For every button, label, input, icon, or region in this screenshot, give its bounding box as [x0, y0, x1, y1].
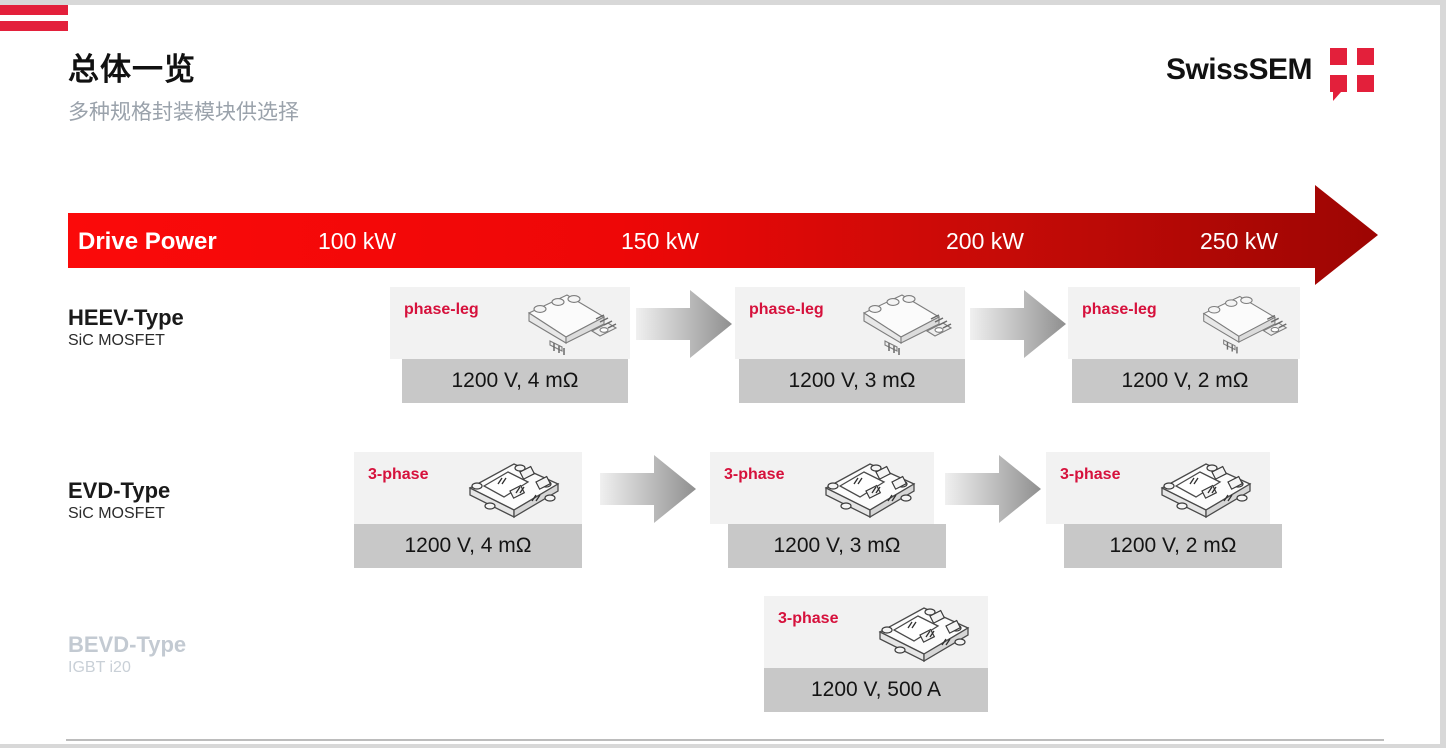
phase-leg-module-icon	[504, 291, 622, 359]
card-heev-2[interactable]: phase-leg	[735, 287, 965, 403]
card-bevd-1[interactable]: 3-phase	[764, 596, 988, 712]
three-phase-module-icon	[868, 602, 978, 668]
page-edge-right	[1440, 0, 1446, 748]
page-edge-bottom	[0, 744, 1446, 748]
row-name-heev: HEEV-Type	[68, 305, 184, 330]
row-label-evd: EVD-Type SiC MOSFET	[68, 478, 170, 525]
connector-arrow-heev-2	[970, 290, 1066, 358]
card-evd-3[interactable]: 3-phase	[1046, 452, 1270, 568]
card-tag-evd-2: 3-phase	[724, 466, 784, 484]
card-spec-evd-3: 1200 V, 2 mΩ	[1064, 524, 1282, 568]
power-tick-150kw: 150 kW	[621, 228, 699, 255]
page-subtitle: 多种规格封装模块供选择	[68, 96, 299, 126]
row-name-evd: EVD-Type	[68, 478, 170, 503]
row-sub-bevd: IGBT i20	[68, 657, 186, 679]
card-tag-heev-3: phase-leg	[1082, 301, 1157, 319]
card-image-heev-3: phase-leg	[1068, 287, 1300, 359]
drive-power-labels: Drive Power 100 kW 150 kW 200 kW 250 kW	[68, 228, 1378, 258]
three-phase-module-icon	[458, 458, 568, 524]
card-tag-heev-1: phase-leg	[404, 301, 479, 319]
power-tick-250kw: 250 kW	[1200, 228, 1278, 255]
three-phase-module-icon	[1150, 458, 1260, 524]
slide-canvas: 总体一览 多种规格封装模块供选择 SwissSEM Drive Power 10…	[0, 0, 1446, 748]
card-tag-bevd-1: 3-phase	[778, 610, 838, 628]
three-phase-module-icon	[814, 458, 924, 524]
connector-arrow-evd-1	[600, 455, 696, 523]
power-tick-200kw: 200 kW	[946, 228, 1024, 255]
brand-wordmark: SwissSEM	[1166, 53, 1312, 87]
brand-squares-icon	[1330, 48, 1374, 92]
card-spec-heev-1: 1200 V, 4 mΩ	[402, 359, 628, 403]
row-name-bevd: BEVD-Type	[68, 632, 186, 657]
card-heev-1[interactable]: phase-leg	[390, 287, 630, 403]
card-tag-heev-2: phase-leg	[749, 301, 824, 319]
accent-bar-upper	[0, 5, 68, 15]
connector-arrow-evd-2	[945, 455, 1041, 523]
connector-arrow-heev-1	[636, 290, 732, 358]
row-sub-heev: SiC MOSFET	[68, 330, 184, 352]
drive-power-heading: Drive Power	[78, 228, 217, 256]
card-heev-3[interactable]: phase-leg	[1068, 287, 1300, 403]
card-tag-evd-3: 3-phase	[1060, 466, 1120, 484]
card-spec-evd-1: 1200 V, 4 mΩ	[354, 524, 582, 568]
row-label-bevd: BEVD-Type IGBT i20	[68, 632, 186, 679]
card-spec-bevd-1: 1200 V, 500 A	[764, 668, 988, 712]
card-image-heev-2: phase-leg	[735, 287, 965, 359]
page-title: 总体一览	[68, 44, 196, 89]
phase-leg-module-icon	[1180, 291, 1292, 359]
card-evd-2[interactable]: 3-phase	[710, 452, 934, 568]
card-image-evd-1: 3-phase	[354, 452, 582, 524]
card-evd-1[interactable]: 3-phase	[354, 452, 582, 568]
card-tag-evd-1: 3-phase	[368, 466, 428, 484]
footer-divider	[66, 739, 1384, 741]
card-spec-heev-3: 1200 V, 2 mΩ	[1072, 359, 1298, 403]
page-edge-top	[0, 0, 1446, 5]
power-tick-100kw: 100 kW	[318, 228, 396, 255]
card-image-bevd-1: 3-phase	[764, 596, 988, 668]
row-sub-evd: SiC MOSFET	[68, 503, 170, 525]
card-image-evd-3: 3-phase	[1046, 452, 1270, 524]
accent-bar-lower	[0, 21, 68, 31]
card-image-evd-2: 3-phase	[710, 452, 934, 524]
phase-leg-module-icon	[839, 291, 957, 359]
card-spec-evd-2: 1200 V, 3 mΩ	[728, 524, 946, 568]
card-spec-heev-2: 1200 V, 3 mΩ	[739, 359, 965, 403]
row-label-heev: HEEV-Type SiC MOSFET	[68, 305, 184, 352]
card-image-heev-1: phase-leg	[390, 287, 630, 359]
brand-logo: SwissSEM	[1166, 48, 1374, 92]
